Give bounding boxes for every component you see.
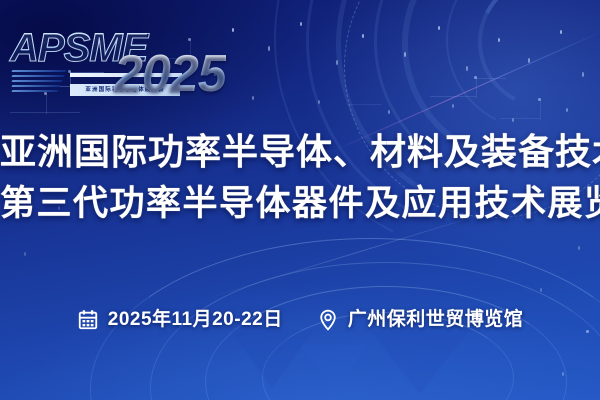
apsme-logo: APSME 亚洲国际功率半导体展览会 2025 (10, 26, 200, 96)
event-date-text: 2025年11月20-22日 (108, 308, 283, 332)
logo-building-bars-icon (12, 70, 70, 94)
event-banner: APSME 亚洲国际功率半导体展览会 2025 亚洲国际功率半导体、材料及装备技… (0, 0, 600, 400)
location-pin-icon (317, 309, 339, 331)
headline-line-1: 亚洲国际功率半导体、材料及装备技术展览会 (0, 126, 600, 178)
event-date: 2025年11月20-22日 (77, 308, 283, 332)
event-meta-row: 2025年11月20-22日 广州保利世贸博览馆 (0, 308, 600, 332)
event-venue: 广州保利世贸博览馆 (317, 308, 524, 332)
headline-block: 亚洲国际功率半导体、材料及装备技术展览会 第三代功率半导体器件及应用技术展览会 (0, 126, 600, 230)
event-venue-text: 广州保利世贸博览馆 (348, 308, 524, 332)
logo-year: 2025 (114, 48, 226, 100)
calendar-icon (77, 309, 99, 331)
headline-line-2: 第三代功率半导体器件及应用技术展览会 (0, 178, 600, 230)
